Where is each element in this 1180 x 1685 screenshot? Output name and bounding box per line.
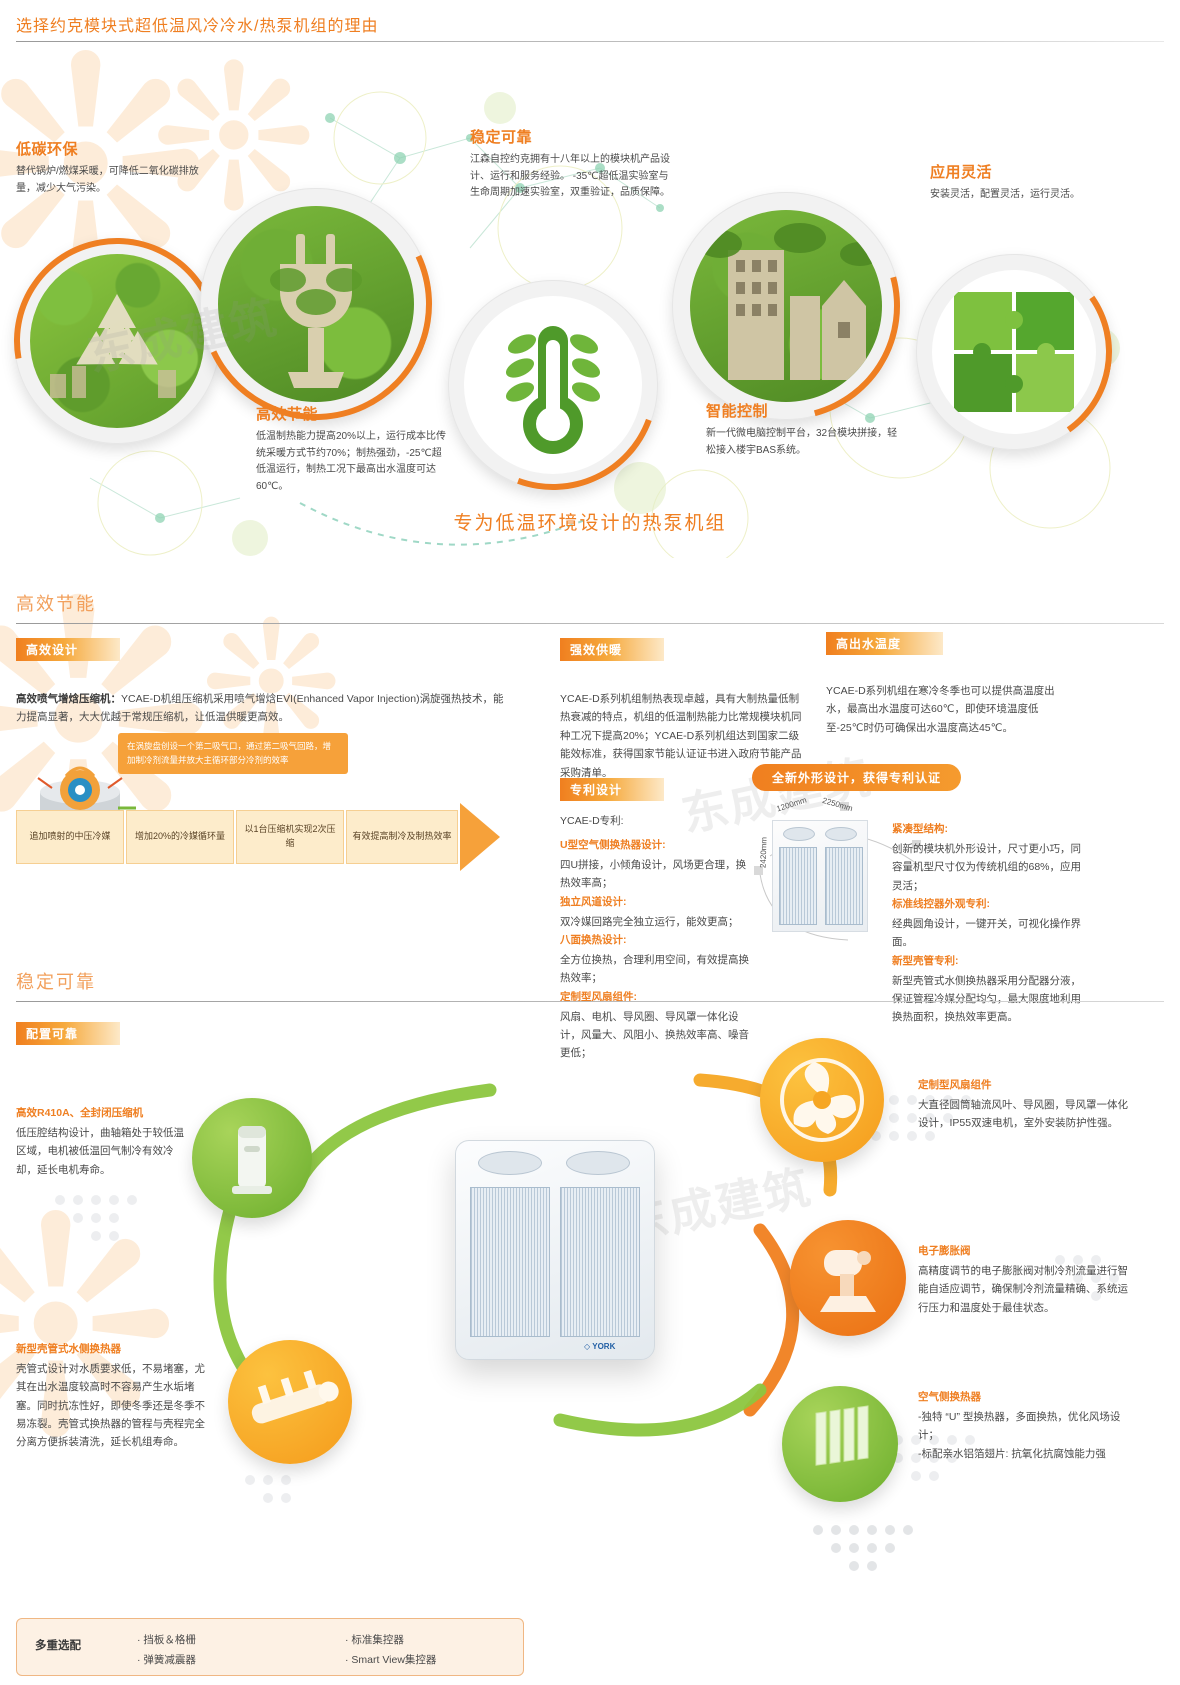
evi-callout: 在涡旋盘创设一个第二吸气口，通过第二吸气回路，增加制冷剂流量并放大主循环部分冷剂… bbox=[118, 733, 348, 774]
reliability-item-title: 电子膨胀阀 bbox=[918, 1242, 1132, 1262]
patent-item-title: 定制型风扇组件: bbox=[560, 988, 750, 1008]
section-header-efficiency: 高效节能 bbox=[16, 590, 96, 616]
coil-panel bbox=[825, 847, 863, 925]
hero-caption-body: 替代锅炉/燃煤采暖，可降低二氧化碳排放量，减少大气污染。 bbox=[16, 164, 206, 197]
section-divider bbox=[16, 623, 1164, 624]
central-unit-photo: ◇ YORK bbox=[455, 1140, 655, 1360]
unit-brand-mark: ◇ YORK bbox=[584, 1342, 615, 1351]
hero-caption-body: 安装灵活，配置灵活，运行灵活。 bbox=[930, 187, 1160, 204]
dimension-height: 2420mm bbox=[759, 837, 769, 868]
medallion-recycle bbox=[14, 238, 220, 444]
bubble-shell-tube bbox=[228, 1340, 352, 1464]
pill-label: 专利设计 bbox=[560, 778, 664, 801]
patent-right-title: 紧凑型结构: bbox=[892, 820, 1088, 840]
recycle-icon bbox=[30, 254, 204, 428]
reliability-item-body: 壳管式设计对水质要求低，不易堵塞，尤其在出水温度较高时不容易产生水垢堵塞。同时抗… bbox=[16, 1360, 206, 1452]
evi-chain-step: 追加喷射的中压冷媒 bbox=[16, 810, 124, 864]
patent-item-body: 全方位换热，合理利用空间，有效提高换热效率； bbox=[560, 951, 750, 988]
bubble-fan bbox=[760, 1038, 884, 1162]
medallion-thermometer bbox=[448, 280, 658, 490]
hero-caption-low-carbon: 低碳环保 替代锅炉/燃煤采暖，可降低二氧化碳排放量，减少大气污染。 bbox=[16, 138, 206, 197]
shell-tube-icon bbox=[228, 1340, 352, 1464]
option-item: · 挡板＆格栅 bbox=[137, 1631, 196, 1651]
medallion-plug-tree bbox=[200, 188, 432, 420]
options-box: 多重选配 · 挡板＆格栅 · 弹簧减震器 · 标准集控器 · Smart Vie… bbox=[16, 1618, 524, 1676]
bubble-heat-exchanger bbox=[782, 1386, 898, 1502]
coil-panel bbox=[779, 847, 817, 925]
reliability-item-title: 高效R410A、全封闭压缩机 bbox=[16, 1104, 184, 1124]
hero-caption-flexible: 应用灵活 安装灵活，配置灵活，运行灵活。 bbox=[930, 161, 1160, 204]
city-building-icon bbox=[690, 210, 882, 402]
hero-caption-title: 智能控制 bbox=[706, 400, 906, 421]
reliability-item-title: 新型壳管式水侧换热器 bbox=[16, 1340, 206, 1360]
page-title: 选择约克模块式超低温风冷冷水/热泵机组的理由 bbox=[16, 12, 378, 36]
brochure-page: ❊ ❊ ❊ ❊ ❊ 选择约克模块式超低温风冷冷水/热泵机组的理由 bbox=[0, 0, 1180, 1685]
option-item: · 标准集控器 bbox=[345, 1631, 436, 1651]
patent-item-body: 四U拼接，小倾角设计，风场更合理，换热效率高； bbox=[560, 856, 750, 893]
reliability-item-body: 大直径圆筒轴流风叶、导风圈，导风罩一体化设计，IP55双速电机，室外安装防护性强… bbox=[918, 1096, 1130, 1133]
patent-right-body: 经典圆角设计，一键开关，可视化操作界面。 bbox=[892, 915, 1088, 952]
heat-exchanger-icon bbox=[782, 1386, 898, 1502]
fan-ring bbox=[566, 1151, 630, 1175]
reliability-item-compressor: 高效R410A、全封闭压缩机 低压腔结构设计，曲轴箱处于较低温区域，电机被低温回… bbox=[16, 1104, 184, 1179]
fan-ring bbox=[783, 827, 815, 841]
reliability-item-body: 高精度调节的电子膨胀阀对制冷剂流量进行智能自适应调节，确保制冷剂流量精确、系统运… bbox=[918, 1262, 1132, 1317]
patent-item-title: U型空气侧换热器设计: bbox=[560, 836, 750, 856]
hero-caption-smart: 智能控制 新一代微电脑控制平台，32台模块拼接，轻松接入楼宇BAS系统。 bbox=[706, 400, 906, 459]
patent-right-title: 新型壳管专利: bbox=[892, 952, 1088, 972]
medallion-city bbox=[672, 192, 900, 420]
reliability-item-shell-tube: 新型壳管式水侧换热器 壳管式设计对水质要求低，不易堵塞，尤其在出水温度较高时不容… bbox=[16, 1340, 206, 1452]
bubble-compressor bbox=[192, 1098, 312, 1218]
pill-label: 高效设计 bbox=[16, 638, 120, 661]
pill-label: 高出水温度 bbox=[826, 632, 943, 655]
fan-ring bbox=[825, 827, 857, 841]
hero-caption-title: 高效节能 bbox=[256, 403, 446, 424]
patent-right-list: 紧凑型结构: 创新的模块机外形设计，尺寸更小巧，同容量机型尺寸仅为传统机组的68… bbox=[892, 820, 1088, 1027]
options-column-left: · 挡板＆格栅 · 弹簧减震器 bbox=[137, 1631, 196, 1671]
fan-ring bbox=[478, 1151, 542, 1175]
patent-item-body: 双冷媒回路完全独立运行，能效更高； bbox=[560, 913, 750, 931]
label-patent-design: 专利设计 bbox=[560, 778, 664, 801]
reliability-item-body: -独特 “U” 型换热器，多面换热，优化风场设计； -标配亲水铝箔翅片: 抗氧化… bbox=[918, 1408, 1134, 1463]
fan-icon bbox=[760, 1038, 884, 1162]
pill-label: 强效供暖 bbox=[560, 638, 664, 661]
efficient-design-lead: 高效喷气增焓压缩机： bbox=[16, 693, 121, 705]
bubble-expansion-valve bbox=[790, 1220, 906, 1336]
reliability-item-expansion-valve: 电子膨胀阀 高精度调节的电子膨胀阀对制冷剂流量进行智能自适应调节，确保制冷剂流量… bbox=[918, 1242, 1132, 1317]
patent-right-body: 新型壳管式水侧换热器采用分配器分液，保证管程冷媒分配均匀，最大限度地利用换热面积… bbox=[892, 972, 1088, 1027]
patent-right-body: 创新的模块机外形设计，尺寸更小巧，同容量机型尺寸仅为传统机组的68%，应用灵活； bbox=[892, 840, 1088, 895]
evi-chain-step: 增加20%的冷媒循环量 bbox=[126, 810, 234, 864]
evi-process-chain: 追加喷射的中压冷媒 增加20%的冷媒循环量 以1台压缩机实现2次压缩 有效提高制… bbox=[16, 810, 508, 864]
coil-panel bbox=[470, 1187, 550, 1337]
hero-caption-reliable: 稳定可靠 江森自控约克拥有十八年以上的模块机产品设计、运行和服务经验。 -35℃… bbox=[470, 126, 678, 202]
efficient-design-body: 高效喷气增焓压缩机：YCAE-D机组压缩机采用喷气增焓EVI(Enhanced … bbox=[16, 690, 508, 727]
hero-section: 低碳环保 替代锅炉/燃煤采暖，可降低二氧化碳排放量，减少大气污染。 稳定可靠 江… bbox=[0, 48, 1180, 558]
compressor-icon bbox=[192, 1098, 312, 1218]
title-divider bbox=[16, 41, 1164, 42]
option-item: · 弹簧减震器 bbox=[137, 1651, 196, 1671]
patent-item-title: 八面换热设计: bbox=[560, 931, 750, 951]
hero-caption-body: 江森自控约克拥有十八年以上的模块机产品设计、运行和服务经验。 -35℃超低温实验… bbox=[470, 152, 678, 202]
options-column-right: · 标准集控器 · Smart View集控器 bbox=[345, 1631, 436, 1671]
label-efficient-design: 高效设计 bbox=[16, 638, 120, 661]
hero-caption-title: 应用灵活 bbox=[930, 161, 1160, 182]
chain-arrowhead bbox=[460, 803, 500, 871]
reliability-item-heat-exchanger: 空气侧换热器 -独特 “U” 型换热器，多面换热，优化风场设计； -标配亲水铝箔… bbox=[918, 1388, 1134, 1463]
patent-banner-label: 全新外形设计，获得专利认证 bbox=[752, 764, 961, 791]
label-strong-heating: 强效供暖 bbox=[560, 638, 664, 661]
patent-item-title: 独立风道设计: bbox=[560, 893, 750, 913]
patent-intro: YCAE-D专利: bbox=[560, 812, 624, 830]
plug-tree-icon bbox=[218, 206, 414, 402]
evi-chain-step: 有效提高制冷及制热效率 bbox=[346, 810, 458, 864]
hero-caption-body: 低温制热能力提高20%以上，运行成本比传统采暖方式节约70%；制热强劲，-25℃… bbox=[256, 429, 446, 495]
coil-panel bbox=[560, 1187, 640, 1337]
option-item: · Smart View集控器 bbox=[345, 1651, 436, 1671]
medallion-puzzle bbox=[916, 254, 1112, 450]
evi-chain-step: 以1台压缩机实现2次压缩 bbox=[236, 810, 344, 864]
patent-item-list: U型空气侧换热器设计: 四U拼接，小倾角设计，风场更合理，换热效率高； 独立风道… bbox=[560, 836, 750, 1063]
puzzle-icon bbox=[932, 270, 1096, 434]
expansion-valve-icon bbox=[790, 1220, 906, 1336]
reliability-item-title: 定制型风扇组件 bbox=[918, 1076, 1130, 1096]
hero-caption-efficient: 高效节能 低温制热能力提高20%以上，运行成本比传统采暖方式节约70%；制热强劲… bbox=[256, 403, 446, 495]
thermometer-leaf-icon bbox=[464, 296, 642, 474]
high-water-temp-body: YCAE-D系列机组在寒冷冬季也可以提供高温度出水，最高出水温度可达60℃，即使… bbox=[826, 682, 1072, 737]
hero-caption-title: 稳定可靠 bbox=[470, 126, 678, 147]
label-high-water-temp: 高出水温度 bbox=[826, 632, 943, 655]
reliability-item-body: 低压腔结构设计，曲轴箱处于较低温区域，电机被低温回气制冷有效冷却，延长电机寿命。 bbox=[16, 1124, 184, 1179]
hero-tagline: 专为低温环境设计的热泵机组 bbox=[0, 508, 1180, 535]
options-title: 多重选配 bbox=[35, 1637, 81, 1653]
hero-caption-body: 新一代微电脑控制平台，32台模块拼接，轻松接入楼宇BAS系统。 bbox=[706, 426, 906, 459]
patent-right-title: 标准线控器外观专利: bbox=[892, 895, 1088, 915]
patent-banner: 全新外形设计，获得专利认证 bbox=[752, 764, 961, 791]
reliability-item-fan: 定制型风扇组件 大直径圆筒轴流风叶、导风圈，导风罩一体化设计，IP55双速电机，… bbox=[918, 1076, 1130, 1133]
section-header-reliability: 稳定可靠 bbox=[16, 968, 96, 994]
section-divider bbox=[16, 1001, 1164, 1002]
reliability-item-title: 空气侧换热器 bbox=[918, 1388, 1134, 1408]
hero-caption-title: 低碳环保 bbox=[16, 138, 206, 159]
unit-photo-top bbox=[772, 820, 868, 932]
